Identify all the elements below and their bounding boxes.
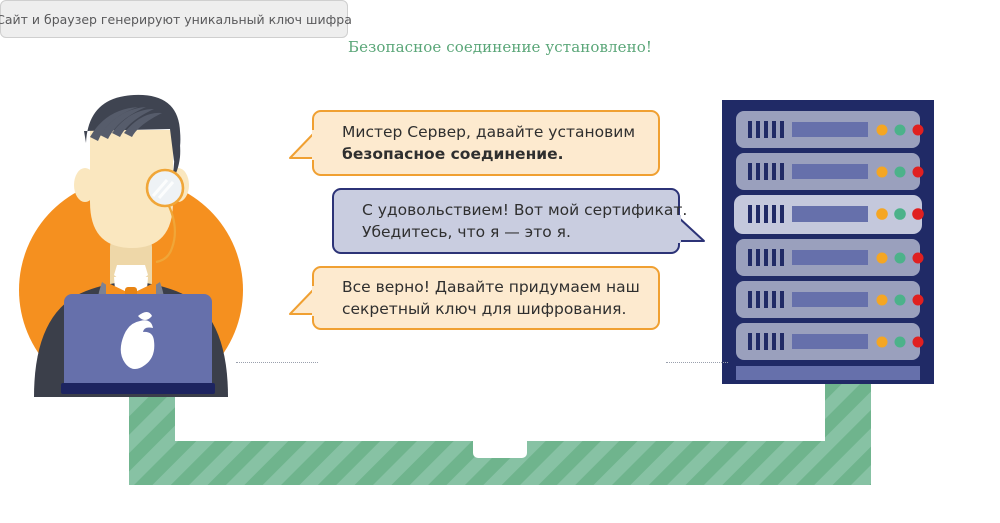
key-generation-label: Сайт и браузер генерируют уникальный клю… xyxy=(0,12,352,27)
server-unit xyxy=(736,111,924,148)
secure-connection-infographic: Мистер Сервер, давайте установим безопас… xyxy=(0,0,1000,523)
server-unit xyxy=(736,323,924,360)
key-generation-box: Сайт и браузер генерируют уникальный клю… xyxy=(0,0,348,38)
bubble-certificate-line1: С удовольствием! Вот мой сертификат. xyxy=(362,199,660,221)
led-green-icon xyxy=(895,253,906,264)
speech-bubble-request: Мистер Сервер, давайте установим безопас… xyxy=(312,110,660,176)
led-red-icon xyxy=(913,125,924,136)
led-red-icon xyxy=(913,167,924,178)
led-orange-icon xyxy=(877,167,888,178)
led-red-icon xyxy=(913,337,924,348)
led-green-icon xyxy=(895,295,906,306)
bubble-key-exchange-line2: секретный ключ для шифрования. xyxy=(342,298,640,320)
caption-secure-connection: Безопасное соединение установлено! xyxy=(0,38,1000,56)
connector-line-right xyxy=(666,362,728,364)
server-rack xyxy=(722,100,934,384)
speech-bubble-certificate-tail xyxy=(676,215,706,253)
bubble-certificate-line2: Убедитесь, что я — это я. xyxy=(362,221,660,243)
server-base-bar xyxy=(736,366,920,380)
led-green-icon xyxy=(895,337,906,348)
bubble-key-exchange-line1: Все верно! Давайте придумаем наш xyxy=(342,276,640,298)
server-unit-active xyxy=(734,195,924,234)
led-orange-icon xyxy=(877,295,888,306)
speech-bubble-request-tail xyxy=(288,130,316,168)
connector-line-left xyxy=(236,362,318,364)
server-unit xyxy=(736,153,924,190)
led-orange-icon xyxy=(877,125,888,136)
led-green-icon xyxy=(895,167,906,178)
led-green-icon xyxy=(895,125,906,136)
bubble-request-line1: Мистер Сервер, давайте установим xyxy=(342,121,640,143)
monocle-icon xyxy=(147,170,183,206)
bubble-request-line2: безопасное соединение. xyxy=(342,143,640,165)
browser-character xyxy=(18,85,298,397)
led-green-icon xyxy=(894,208,906,220)
server-unit xyxy=(736,281,924,318)
laptop-icon xyxy=(61,294,215,394)
led-orange-icon xyxy=(877,253,888,264)
led-red-icon xyxy=(912,208,924,220)
speech-bubble-key-exchange: Все верно! Давайте придумаем наш секретн… xyxy=(312,266,660,330)
led-red-icon xyxy=(913,295,924,306)
speech-bubble-key-exchange-tail xyxy=(288,286,316,324)
led-orange-icon xyxy=(876,208,888,220)
speech-bubble-certificate: С удовольствием! Вот мой сертификат. Убе… xyxy=(332,188,680,254)
led-orange-icon xyxy=(877,337,888,348)
server-unit xyxy=(736,239,924,276)
led-red-icon xyxy=(913,253,924,264)
